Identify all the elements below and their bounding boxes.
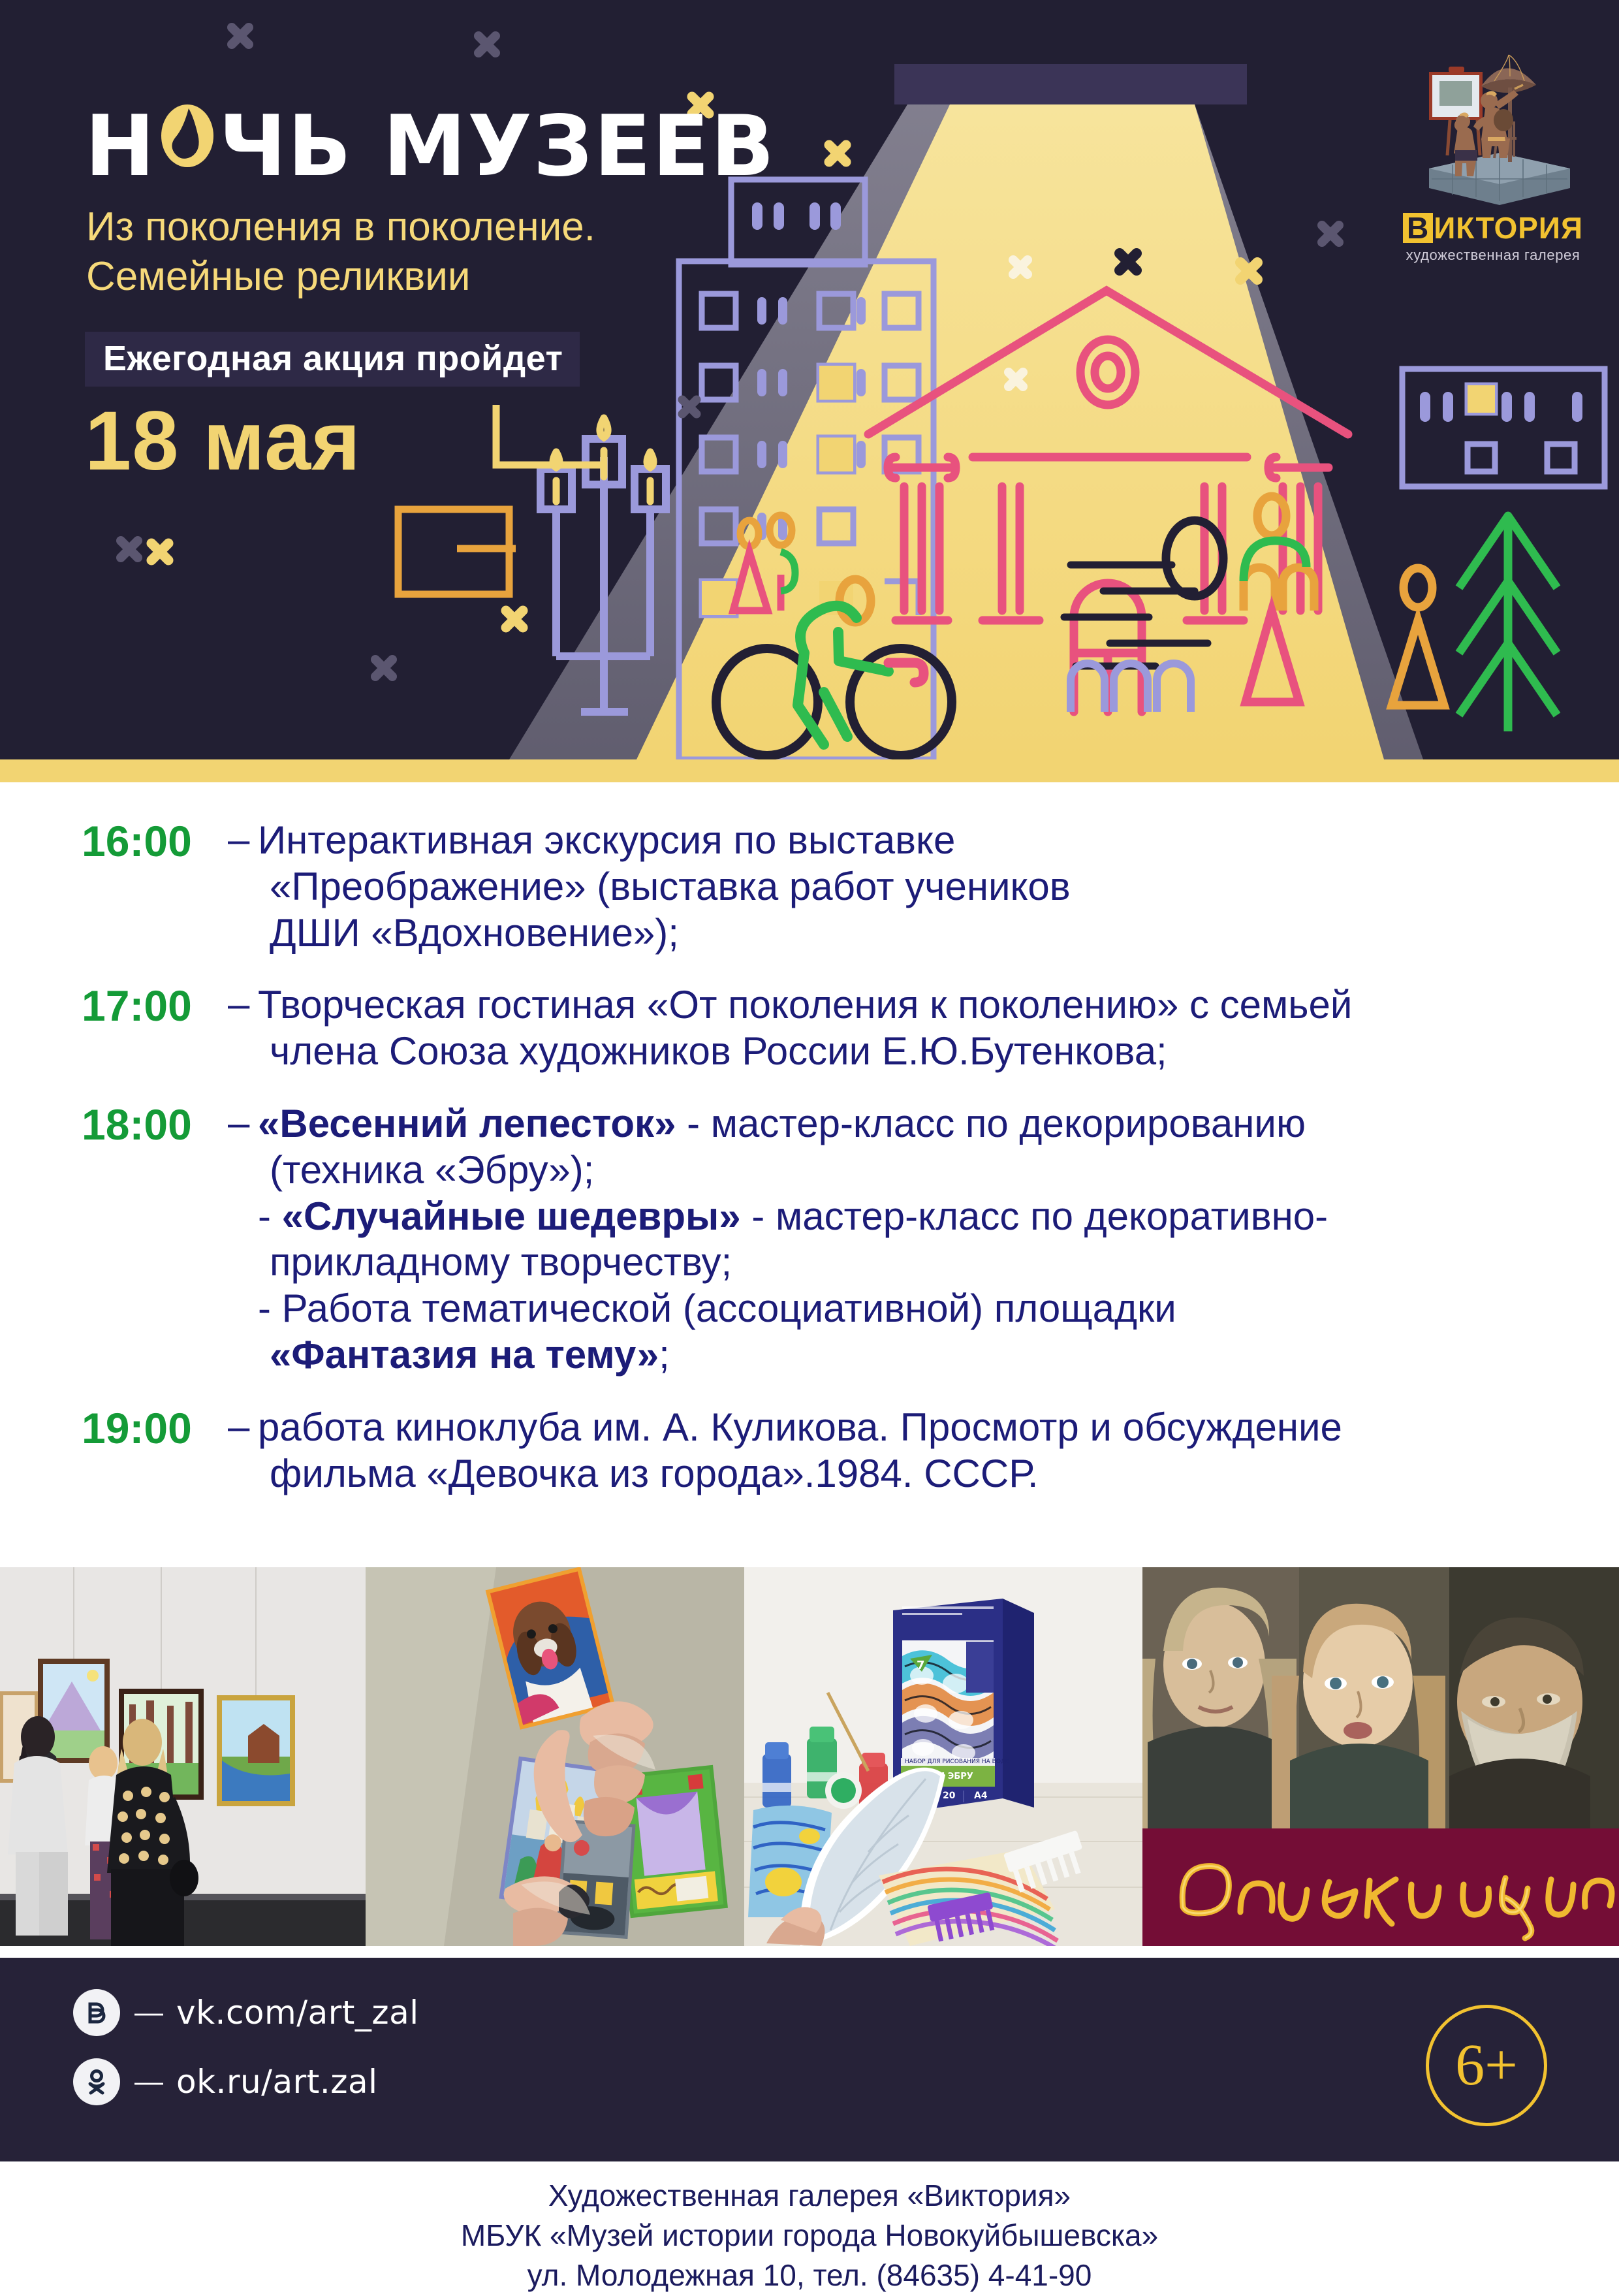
photo-card-artworks <box>366 1567 744 1946</box>
age-rating-badge: 6+ <box>1426 2005 1547 2126</box>
gallery-name: ВИКТОРИЯ <box>1385 213 1601 243</box>
schedule-description: «Весенний лепесток» - мастер-класс по де… <box>258 1101 1570 1379</box>
schedule-line: «Преображение» (выставка работ учеников <box>258 864 1570 910</box>
ok-glyph <box>82 2067 111 2096</box>
vk-icon[interactable] <box>73 1989 120 2036</box>
logo-text: НЧЬ МУЗЕЕВ <box>85 91 776 189</box>
footer-address: Художественная галерея «Виктория» МБУК «… <box>0 2161 1619 2291</box>
statue-icon <box>1395 40 1591 210</box>
schedule-line-rest: - мастер-класс по декоративно- <box>741 1194 1328 1238</box>
schedule-line-bold: «Фантазия на тему» <box>270 1333 659 1377</box>
schedule-row: 16:00 – Интерактивная экскурсия по выста… <box>82 818 1570 956</box>
logo-wordmark: НЧЬ МУЗЕЕВ <box>85 91 770 189</box>
svg-text:7: 7 <box>917 1659 925 1672</box>
schedule-description: работа киноклуба им. А. Куликова. Просмо… <box>258 1405 1570 1497</box>
schedule-line: - «Случайные шедевры» - мастер-класс по … <box>258 1194 1570 1240</box>
footer-bar: — vk.com/art_zal — ok.ru/art.zal 6+ <box>0 1958 1619 2161</box>
schedule-row: 19:00 – работа киноклуба им. А. Куликова… <box>82 1405 1570 1497</box>
schedule-line-bold: «Случайные шедевры» <box>282 1194 741 1238</box>
schedule-dash: – <box>228 982 258 1075</box>
schedule-list: 16:00 – Интерактивная экскурсия по выста… <box>82 818 1570 1523</box>
schedule-time: 18:00 <box>82 1101 228 1379</box>
gallery-name-rest: ИКТОРИЯ <box>1434 211 1583 245</box>
schedule-line: прикладному творчеству; <box>258 1239 1570 1286</box>
schedule-dash: – <box>228 1405 258 1497</box>
schedule-bullet: - <box>258 1286 271 1330</box>
footer-line-3: ул. Молодежная 10, тел. (84635) 4-41-90 <box>0 2256 1619 2295</box>
social-row-ok[interactable]: — ok.ru/art.zal <box>73 2058 419 2105</box>
ok-icon[interactable] <box>73 2058 120 2105</box>
schedule-dash: – <box>228 1101 258 1379</box>
schedule-line: члена Союза художников России Е.Ю.Бутенк… <box>258 1028 1570 1075</box>
social-row-vk[interactable]: — vk.com/art_zal <box>73 1989 419 2036</box>
footer-line-1: Художественная галерея «Виктория» <box>0 2176 1619 2216</box>
schedule-dash: – <box>228 818 258 956</box>
photo-ebru-paint-set: 7 НАБОР ДЛЯ РИСОВАНИЯ НА ВОДЕ КРАСКИ ЭБР… <box>744 1567 1142 1946</box>
gallery-name-initial: В <box>1403 213 1433 243</box>
ok-url[interactable]: ok.ru/art.zal <box>176 2065 378 2098</box>
photo-film-poster <box>1142 1567 1619 1946</box>
schedule-line: - Работа тематической (ассоциативной) пл… <box>258 1286 1570 1332</box>
subtitle-line-1: Из поколения в поколение. <box>86 202 870 252</box>
schedule-line: Творческая гостиная «От поколения к поко… <box>258 982 1570 1028</box>
schedule-line: (техника «Эбру»); <box>258 1147 1570 1194</box>
svg-text:20: 20 <box>943 1791 956 1801</box>
schedule-line-rest: ; <box>659 1333 670 1377</box>
night-of-museums-logo: НЧЬ МУЗЕЕВ <box>85 91 770 189</box>
banner-subtitle: Из поколения в поколение. Семейные релик… <box>86 202 870 301</box>
schedule-section: 16:00 – Интерактивная экскурсия по выста… <box>0 782 1619 1567</box>
schedule-time: 19:00 <box>82 1405 228 1497</box>
event-date: 18 мая <box>85 400 361 483</box>
svg-text:НАБОР ДЛЯ РИСОВАНИЯ НА ВОДЕ: НАБОР ДЛЯ РИСОВАНИЯ НА ВОДЕ <box>905 1759 1009 1765</box>
schedule-time: 16:00 <box>82 818 228 956</box>
schedule-line: «Весенний лепесток» - мастер-класс по де… <box>258 1101 1570 1147</box>
schedule-time: 17:00 <box>82 982 228 1075</box>
yellow-divider <box>0 759 1619 782</box>
gallery-logo: ВИКТОРИЯ художественная галерея <box>1385 40 1601 264</box>
social-dash-vk: — <box>134 1998 163 2027</box>
vk-url[interactable]: vk.com/art_zal <box>176 1996 419 2029</box>
schedule-line: ДШИ «Вдохновение»); <box>258 910 1570 957</box>
photo-strip: 7 НАБОР ДЛЯ РИСОВАНИЯ НА ВОДЕ КРАСКИ ЭБР… <box>0 1567 1619 1946</box>
schedule-line: работа киноклуба им. А. Куликова. Просмо… <box>258 1405 1570 1451</box>
social-dash-ok: — <box>134 2067 163 2096</box>
schedule-bullet: - <box>258 1194 271 1238</box>
schedule-line-rest: - мастер-класс по декорированию <box>676 1102 1305 1145</box>
annual-event-label: Ежегодная акция пройдет <box>85 332 580 387</box>
schedule-line: «Фантазия на тему»; <box>258 1332 1570 1379</box>
moon-icon <box>156 91 219 175</box>
poster-banner: НЧЬ МУЗЕЕВ Из поколения в поколение. Сем… <box>0 0 1619 759</box>
schedule-description: Творческая гостиная «От поколения к поко… <box>258 982 1570 1075</box>
footer-line-2: МБУК «Музей истории города Новокуйбышевс… <box>0 2216 1619 2256</box>
schedule-row: 18:00 – «Весенний лепесток» - мастер-кла… <box>82 1101 1570 1379</box>
social-links: — vk.com/art_zal — ok.ru/art.zal <box>73 1989 419 2128</box>
vk-glyph <box>82 1998 111 2027</box>
schedule-line-rest: Работа тематической (ассоциативной) площ… <box>282 1286 1176 1330</box>
subtitle-line-2: Семейные реликвии <box>86 252 870 302</box>
schedule-row: 17:00 – Творческая гостиная «От поколени… <box>82 982 1570 1075</box>
schedule-line: Интерактивная экскурсия по выставке <box>258 818 1570 864</box>
schedule-description: Интерактивная экскурсия по выставке «Пре… <box>258 818 1570 956</box>
gallery-subtitle: художественная галерея <box>1385 247 1601 264</box>
schedule-line-bold: «Весенний лепесток» <box>258 1102 676 1145</box>
svg-text:A4: A4 <box>974 1791 988 1801</box>
schedule-line: фильма «Девочка из города».1984. СССР. <box>258 1451 1570 1497</box>
photo-exhibition-visitors <box>0 1567 366 1946</box>
